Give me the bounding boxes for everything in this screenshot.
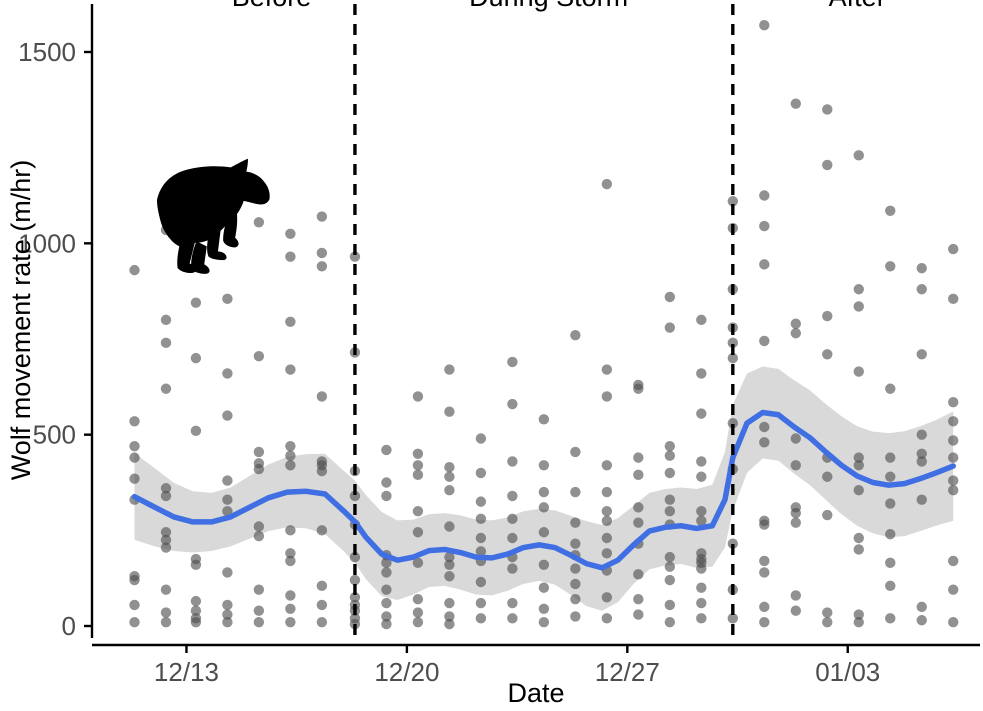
scatter-point	[633, 452, 643, 462]
scatter-point	[413, 470, 423, 480]
scatter-point	[161, 384, 171, 394]
scatter-point	[413, 506, 423, 516]
scatter-point	[665, 575, 675, 585]
panel-labels: BeforeDuring StormAfter	[232, 0, 886, 12]
scatter-point	[381, 445, 391, 455]
scatter-point	[161, 607, 171, 617]
scatter-point	[791, 328, 801, 338]
scatter-point	[822, 311, 832, 321]
scatter-point	[570, 594, 580, 604]
scatter-point	[507, 491, 517, 501]
scatter-point	[285, 252, 295, 262]
scatter-point	[665, 468, 675, 478]
scatter-point	[285, 317, 295, 327]
scatter-point	[444, 485, 454, 495]
scatter-point	[222, 617, 232, 627]
scatter-point	[822, 349, 832, 359]
scatter-point	[444, 571, 454, 581]
scatter-point	[665, 561, 675, 571]
scatter-point	[885, 261, 895, 271]
scatter-point	[254, 617, 264, 627]
scatter-point	[759, 20, 769, 30]
scatter-point	[317, 600, 327, 610]
scatter-point	[791, 517, 801, 527]
scatter-point	[759, 617, 769, 627]
after-label: After	[829, 0, 886, 12]
scatter-point	[285, 525, 295, 535]
scatter-point	[285, 556, 295, 566]
scatter-point	[570, 487, 580, 497]
wolf-silhouette-icon	[157, 159, 270, 274]
before-label: Before	[232, 0, 312, 12]
scatter-point	[570, 563, 580, 573]
scatter-point	[948, 617, 958, 627]
scatter-point	[317, 466, 327, 476]
scatter-point	[129, 441, 139, 451]
scatter-point	[602, 613, 612, 623]
during-storm-label: During Storm	[469, 0, 628, 12]
scatter-point	[885, 613, 895, 623]
scatter-point	[696, 456, 706, 466]
scatter-point	[633, 470, 643, 480]
scatter-point	[476, 613, 486, 623]
scatter-point	[570, 517, 580, 527]
scatter-point	[633, 609, 643, 619]
scatter-point	[254, 531, 264, 541]
scatter-point	[917, 456, 927, 466]
scatter-point	[191, 596, 201, 606]
scatter-point	[129, 452, 139, 462]
scatter-point	[854, 485, 864, 495]
scatter-point	[759, 336, 769, 346]
scatter-point	[633, 594, 643, 604]
scatter-point	[917, 263, 927, 273]
scatter-point	[602, 548, 612, 558]
wolf-silhouette-icon	[157, 159, 270, 274]
scatter-point	[822, 160, 832, 170]
scatter-point	[948, 452, 958, 462]
scatter-point	[917, 495, 927, 505]
scatter-point	[285, 451, 295, 461]
scatter-point	[665, 495, 675, 505]
scatter-point	[129, 600, 139, 610]
scatter-point	[854, 460, 864, 470]
scatter-point	[539, 502, 549, 512]
scatter-point	[381, 619, 391, 629]
scatter-point	[759, 602, 769, 612]
scatter-point	[948, 485, 958, 495]
scatter-point	[413, 607, 423, 617]
scatter-point	[444, 560, 454, 570]
scatter-point	[854, 366, 864, 376]
scatter-point	[129, 416, 139, 426]
scatter-point	[759, 556, 769, 566]
scatter-point	[791, 590, 801, 600]
scatter-point	[317, 391, 327, 401]
scatter-point	[602, 487, 612, 497]
scatter-point	[222, 294, 232, 304]
scatter-point	[129, 473, 139, 483]
scatter-point	[633, 569, 643, 579]
scatter-point	[161, 491, 171, 501]
scatter-point	[476, 514, 486, 524]
scatter-point	[665, 506, 675, 516]
scatter-point	[285, 604, 295, 614]
scatter-point	[948, 584, 958, 594]
scatter-point	[696, 598, 706, 608]
scatter-point	[696, 408, 706, 418]
scatter-point	[507, 613, 517, 623]
scatter-point	[885, 529, 895, 539]
scatter-point	[696, 368, 706, 378]
scatter-point	[476, 598, 486, 608]
scatter-point	[444, 598, 454, 608]
scatter-point	[539, 583, 549, 593]
scatter-point	[665, 451, 675, 461]
x-tick-label: 12/27	[595, 657, 660, 687]
scatter-point	[222, 495, 232, 505]
scatter-point	[222, 475, 232, 485]
scatter-point	[570, 611, 580, 621]
scatter-point	[507, 456, 517, 466]
scatter-point	[444, 462, 454, 472]
x-tick-label: 12/20	[374, 657, 439, 687]
scatter-point	[254, 521, 264, 531]
scatter-point	[476, 533, 486, 543]
scatter-point	[254, 464, 264, 474]
scatter-point	[696, 472, 706, 482]
scatter-point	[822, 472, 832, 482]
scatter-point	[285, 617, 295, 627]
scatter-point	[948, 244, 958, 254]
scatter-point	[129, 617, 139, 627]
scatter-point	[254, 584, 264, 594]
scatter-point	[602, 592, 612, 602]
scatter-point	[696, 506, 706, 516]
scatter-point	[665, 617, 675, 627]
scatter-point	[696, 563, 706, 573]
scatter-point	[633, 517, 643, 527]
scatter-point	[885, 206, 895, 216]
y-tick-label: 500	[33, 420, 76, 450]
scatter-point	[191, 560, 201, 570]
scatter-point	[885, 384, 895, 394]
scatter-point	[317, 617, 327, 627]
scatter-point	[791, 433, 801, 443]
scatter-point	[759, 519, 769, 529]
scatter-point	[948, 416, 958, 426]
scatter-point	[602, 179, 612, 189]
scatter-point	[413, 527, 423, 537]
scatter-point	[854, 284, 864, 294]
scatter-point	[507, 598, 517, 608]
scatter-point	[317, 248, 327, 258]
y-tick-label: 1500	[18, 37, 76, 67]
scatter-point	[285, 229, 295, 239]
scatter-point	[254, 605, 264, 615]
scatter-point	[822, 607, 832, 617]
scatter-point	[161, 315, 171, 325]
scatter-point	[822, 104, 832, 114]
y-axis-title: Wolf movement rate (m/hr)	[6, 160, 36, 481]
scatter-point	[759, 567, 769, 577]
scatter-point	[822, 510, 832, 520]
scatter-point	[539, 460, 549, 470]
scatter-point	[854, 150, 864, 160]
scatter-point	[507, 533, 517, 543]
scatter-point	[602, 460, 612, 470]
scatter-point	[570, 539, 580, 549]
scatter-point	[854, 617, 864, 627]
scatter-point	[381, 567, 391, 577]
scatter-point	[539, 604, 549, 614]
x-tick-label: 01/03	[815, 657, 880, 687]
scatter-point	[444, 619, 454, 629]
scatter-point	[254, 351, 264, 361]
scatter-point	[791, 318, 801, 328]
scatter-point	[129, 575, 139, 585]
scatter-point	[570, 579, 580, 589]
scatter-point	[222, 600, 232, 610]
scatter-point	[161, 584, 171, 594]
scatter-point	[539, 617, 549, 627]
scatter-point	[602, 391, 612, 401]
scatter-point	[222, 567, 232, 577]
scatter-point	[191, 353, 201, 363]
scatter-point	[317, 261, 327, 271]
scatter-point	[539, 487, 549, 497]
scatter-point	[854, 544, 864, 554]
scatter-point	[948, 294, 958, 304]
scatter-point	[539, 527, 549, 537]
scatter-point	[507, 399, 517, 409]
scatter-point	[161, 338, 171, 348]
scatter-point	[539, 414, 549, 424]
chart-canvas: 050010001500 12/1312/2012/2701/03 Before…	[0, 0, 983, 711]
scatter-point	[254, 447, 264, 457]
scatter-point	[381, 491, 391, 501]
wolf-movement-figure: 050010001500 12/1312/2012/2701/03 Before…	[0, 0, 983, 711]
scatter-point	[444, 364, 454, 374]
scatter-point	[602, 364, 612, 374]
scatter-point	[602, 516, 612, 526]
scatter-point	[539, 560, 549, 570]
scatter-point	[381, 584, 391, 594]
scatter-point	[917, 349, 927, 359]
scatter-point	[791, 98, 801, 108]
x-tick-label: 12/13	[154, 657, 219, 687]
scatter-point	[444, 472, 454, 482]
scatter-point	[161, 617, 171, 627]
scatter-point	[381, 477, 391, 487]
scatter-point	[507, 357, 517, 367]
scatter-point	[413, 391, 423, 401]
scatter-point	[444, 407, 454, 417]
y-tick-label: 0	[62, 611, 76, 641]
scatter-point	[759, 422, 769, 432]
scatter-point	[285, 460, 295, 470]
scatter-point	[476, 577, 486, 587]
scatter-point	[791, 508, 801, 518]
scatter-point	[885, 581, 895, 591]
scatter-point	[696, 315, 706, 325]
scatter-point	[885, 452, 895, 462]
scatter-point	[854, 301, 864, 311]
scatter-point	[791, 460, 801, 470]
scatter-point	[665, 552, 675, 562]
scatter-point	[822, 617, 832, 627]
scatter-point	[633, 384, 643, 394]
scatter-point	[507, 563, 517, 573]
scatter-point	[413, 460, 423, 470]
scatter-point	[948, 475, 958, 485]
scatter-point	[222, 368, 232, 378]
scatter-point	[191, 297, 201, 307]
scatter-point	[129, 265, 139, 275]
scatter-point	[759, 437, 769, 447]
scatter-point	[885, 498, 895, 508]
scatter-point	[665, 441, 675, 451]
scatter-point	[759, 259, 769, 269]
scatter-point	[570, 330, 580, 340]
scatter-point	[696, 583, 706, 593]
scatter-point	[413, 449, 423, 459]
scatter-point	[191, 617, 201, 627]
scatter-point	[948, 556, 958, 566]
scatter-point	[350, 575, 360, 585]
scatter-point	[381, 598, 391, 608]
scatter-point	[917, 284, 927, 294]
scatter-point	[285, 590, 295, 600]
scatter-point	[665, 322, 675, 332]
scatter-point	[917, 602, 927, 612]
scatter-point	[917, 615, 927, 625]
scatter-point	[476, 496, 486, 506]
scatter-point	[885, 558, 895, 568]
scatter-point	[222, 410, 232, 420]
scatter-point	[791, 605, 801, 615]
scatter-point	[285, 441, 295, 451]
scatter-point	[759, 221, 769, 231]
scatter-point	[665, 600, 675, 610]
scatter-point	[665, 292, 675, 302]
scatter-point	[254, 217, 264, 227]
scatter-point	[161, 542, 171, 552]
scatter-point	[507, 514, 517, 524]
scatter-point	[917, 429, 927, 439]
scatter-point	[444, 521, 454, 531]
scatter-point	[191, 426, 201, 436]
scatter-point	[854, 533, 864, 543]
scatter-point	[602, 506, 612, 516]
scatter-point	[602, 533, 612, 543]
scatter-point	[885, 472, 895, 482]
scatter-point	[948, 397, 958, 407]
scatter-point	[696, 613, 706, 623]
scatter-point	[285, 364, 295, 374]
scatter-point	[413, 617, 423, 627]
scatter-point	[317, 581, 327, 591]
scatter-point	[413, 594, 423, 604]
scatter-point	[948, 435, 958, 445]
scatter-point	[759, 190, 769, 200]
scatter-point	[476, 468, 486, 478]
scatter-point	[570, 447, 580, 457]
scatter-point	[317, 211, 327, 221]
scatter-point	[476, 433, 486, 443]
scatter-point	[633, 502, 643, 512]
x-axis-title: Date	[507, 678, 564, 708]
scatter-point	[317, 525, 327, 535]
